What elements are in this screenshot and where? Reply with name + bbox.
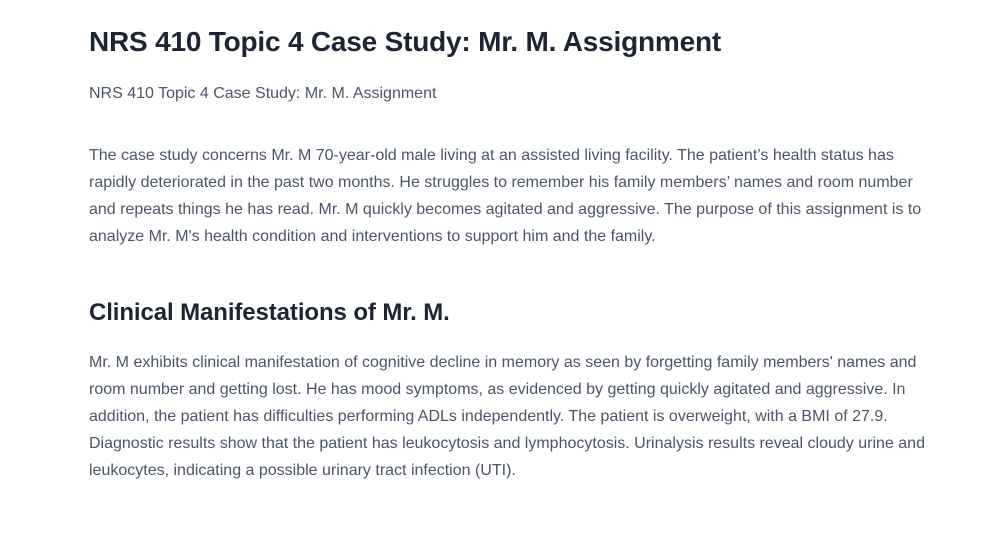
document-subtitle: NRS 410 Topic 4 Case Study: Mr. M. Assig…: [89, 60, 940, 106]
page-title: NRS 410 Topic 4 Case Study: Mr. M. Assig…: [89, 0, 940, 60]
intro-paragraph: The case study concerns Mr. M 70-year-ol…: [89, 106, 940, 250]
section-heading-clinical-manifestations: Clinical Manifestations of Mr. M.: [89, 250, 940, 329]
document-page: NRS 410 Topic 4 Case Study: Mr. M. Assig…: [0, 0, 1007, 540]
section-paragraph-clinical-manifestations: Mr. M exhibits clinical manifestation of…: [89, 329, 940, 484]
